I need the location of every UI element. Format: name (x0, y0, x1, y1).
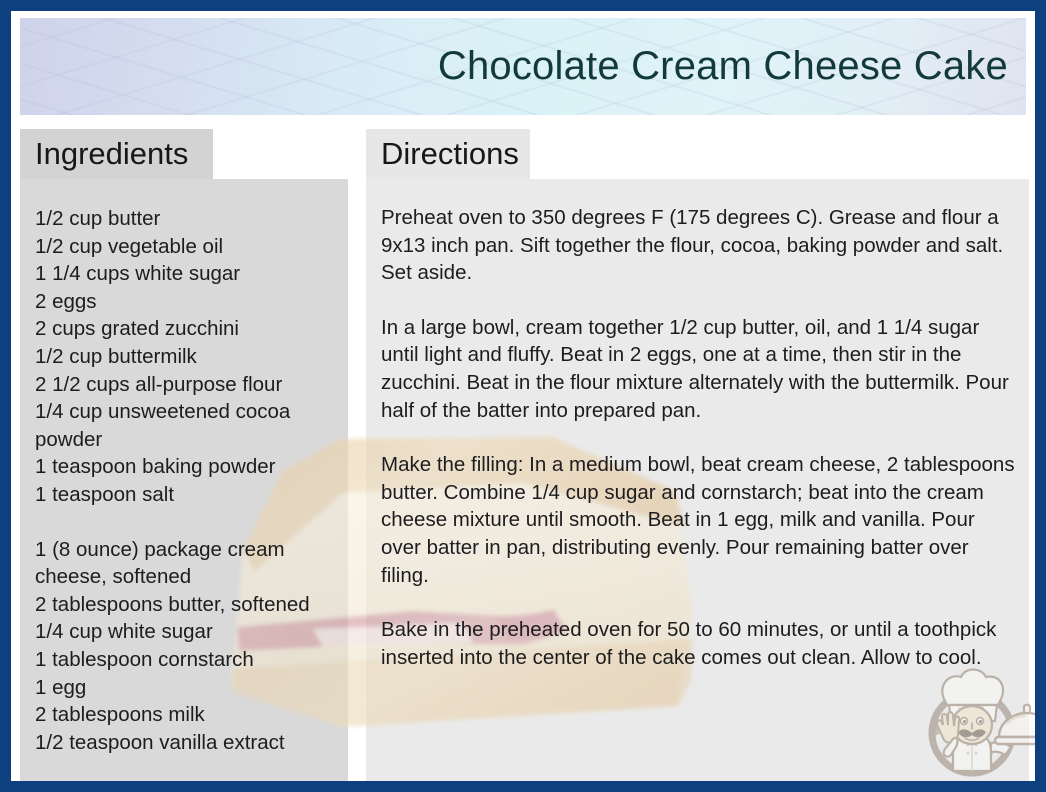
ingredients-heading: Ingredients (20, 129, 213, 179)
list-item: 1 egg (35, 674, 340, 702)
list-item: 1/2 cup butter (35, 205, 340, 233)
list-item: 2 tablespoons butter, softened (35, 591, 340, 619)
list-item: 1 teaspoon baking powder (35, 453, 340, 481)
paragraph: Make the filling: In a medium bowl, beat… (381, 451, 1019, 589)
list-item: 1 1/4 cups white sugar (35, 260, 340, 288)
list-item: 2 tablespoons milk (35, 701, 340, 729)
page-title: Chocolate Cream Cheese Cake (438, 46, 1008, 86)
ingredients-tab-notch (213, 129, 348, 179)
list-item: 2 cups grated zucchini (35, 315, 340, 343)
ingredients-panel: Ingredients 1/2 cup butter 1/2 cup veget… (20, 129, 348, 789)
paragraph: Preheat oven to 350 degrees F (175 degre… (381, 204, 1019, 287)
header-banner: Chocolate Cream Cheese Cake (20, 18, 1026, 115)
directions-panel: Directions Preheat oven to 350 degrees F… (366, 129, 1029, 789)
list-item: 1/4 cup white sugar (35, 618, 340, 646)
list-item: 2 1/2 cups all-purpose flour (35, 371, 340, 399)
list-item: 2 eggs (35, 288, 340, 316)
ingredients-group-batter: 1/2 cup butter 1/2 cup vegetable oil 1 1… (35, 205, 340, 509)
list-item: 1 (8 ounce) package cream cheese, soften… (35, 536, 340, 591)
paragraph: Bake in the preheated oven for 50 to 60 … (381, 616, 1019, 671)
list-item: 1 tablespoon cornstarch (35, 646, 340, 674)
directions-text: Preheat oven to 350 degrees F (175 degre… (381, 204, 1019, 671)
directions-heading: Directions (366, 129, 530, 179)
paragraph: In a large bowl, cream together 1/2 cup … (381, 314, 1019, 424)
list-item: 1/2 cup vegetable oil (35, 233, 340, 261)
ingredients-group-filling: 1 (8 ounce) package cream cheese, soften… (35, 536, 340, 757)
ingredients-list: 1/2 cup butter 1/2 cup vegetable oil 1 1… (35, 205, 340, 756)
list-item: 1 teaspoon salt (35, 481, 340, 509)
list-item: 1/2 cup buttermilk (35, 343, 340, 371)
list-item: 1/4 cup unsweetened cocoa powder (35, 398, 340, 453)
recipe-card: Chocolate Cream Cheese Cake Ingredients … (0, 0, 1046, 792)
directions-tab-notch (530, 129, 1029, 179)
list-item: 1/2 teaspoon vanilla extract (35, 729, 340, 757)
